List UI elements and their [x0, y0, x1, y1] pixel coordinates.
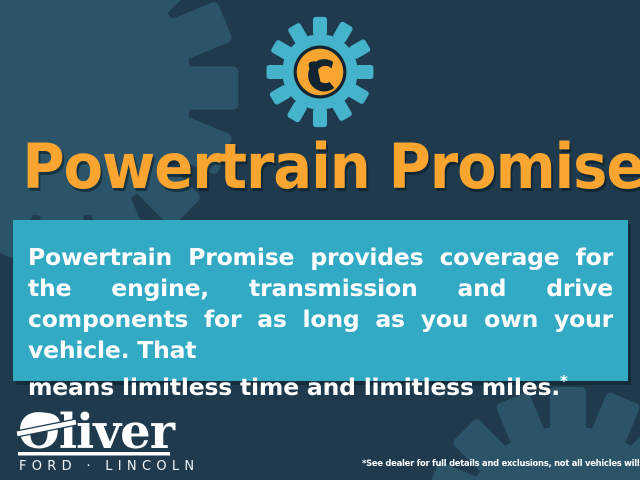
disclaimer-text: *See dealer for full details and exclusi… [362, 458, 634, 469]
logo-subtitle: FORD · LINCOLN [19, 459, 199, 474]
powertrain-promise-poster: Powertrain Promise Powertrain Promise pr… [0, 0, 640, 480]
oliver-ford-lincoln-logo: Oliver FORD · LINCOLN [14, 398, 214, 476]
description-panel: Powertrain Promise provides coverage for… [13, 220, 628, 381]
description-last-line-text: means limitless time and limitless miles… [28, 373, 560, 401]
gear-wrench-icon [266, 16, 374, 128]
page-title: Powertrain Promise [22, 131, 617, 203]
asterisk-marker: * [560, 372, 568, 390]
description-main: Powertrain Promise provides coverage for… [28, 243, 613, 364]
